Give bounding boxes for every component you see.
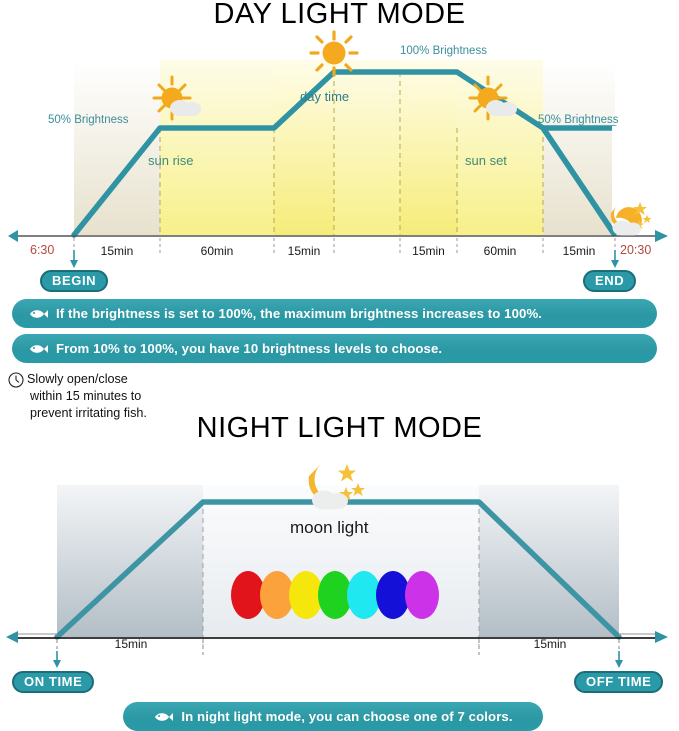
end-pointer: [611, 250, 619, 268]
on-time-button[interactable]: ON TIME: [12, 671, 94, 693]
phase-label-daytime: day time: [300, 89, 349, 104]
sun-icon: [309, 30, 359, 78]
clock-icon: [8, 372, 24, 393]
nightlight-mode-title: NIGHT LIGHT MODE: [0, 412, 679, 445]
segment-label-1: 15min: [77, 244, 157, 258]
phase-label-moonlight: moon light: [290, 518, 368, 538]
fish-icon: [153, 711, 173, 723]
axis-arrow-right: [655, 230, 668, 242]
segment-label-2: 60min: [163, 244, 271, 258]
brightness-label-left: 50% Brightness: [48, 114, 129, 126]
end-time-label: 20:30: [620, 243, 651, 257]
moon-stars-cloud-icon: [307, 461, 369, 513]
fish-icon: [28, 343, 48, 355]
color-swatch-row: [231, 571, 439, 619]
off-time-button[interactable]: OFF TIME: [574, 671, 663, 693]
brightness-label-peak: 100% Brightness: [400, 45, 487, 57]
fish-icon: [28, 308, 48, 320]
banner-brightness-max: If the brightness is set to 100%, the ma…: [12, 299, 657, 328]
moon-stars-cloud-icon: [608, 198, 654, 240]
segment-label-4: 15min: [403, 244, 454, 258]
on-time-pointer: [53, 651, 61, 668]
infographic-root: DAY LIGHT MODE: [0, 0, 679, 731]
axis-arrow-right: [655, 631, 668, 643]
banner-text: If the brightness is set to 100%, the ma…: [56, 306, 542, 321]
brightness-label-right: 50% Brightness: [538, 114, 619, 126]
axis-arrow-left: [6, 631, 18, 643]
note-line-2: within 15 minutes to: [8, 388, 188, 405]
note-line-1: Slowly open/close: [8, 371, 188, 388]
begin-button[interactable]: BEGIN: [40, 270, 108, 292]
banner-night-colors: In night light mode, you can choose one …: [123, 702, 543, 731]
end-button[interactable]: END: [583, 270, 636, 292]
banner-brightness-levels: From 10% to 100%, you have 10 brightness…: [12, 334, 657, 363]
off-time-pointer: [615, 651, 623, 668]
segment-label-3: 15min: [277, 244, 331, 258]
segment-label-6: 15min: [546, 244, 612, 258]
color-swatch-magenta[interactable]: [405, 571, 439, 619]
banner-text: From 10% to 100%, you have 10 brightness…: [56, 341, 442, 356]
axis-arrow-left: [8, 230, 18, 242]
night-segment-label-1: 15min: [60, 637, 202, 651]
phase-label-sunset: sun set: [465, 153, 507, 168]
phase-label-sunrise: sun rise: [148, 153, 194, 168]
sun-behind-cloud-icon: [150, 73, 206, 125]
segment-label-5: 60min: [460, 244, 540, 258]
start-time-label: 6:30: [30, 243, 54, 257]
sun-behind-cloud-icon: [466, 73, 522, 125]
banner-text: In night light mode, you can choose one …: [181, 709, 512, 724]
night-segment-label-2: 15min: [482, 637, 618, 651]
